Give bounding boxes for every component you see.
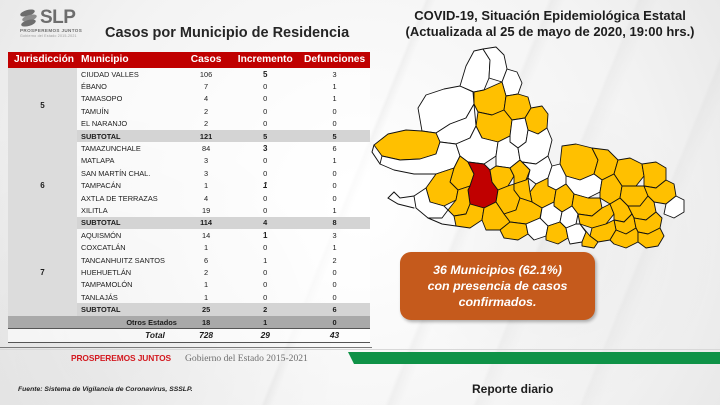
casos-cell: 4 <box>181 192 232 204</box>
defunciones-cell: 0 <box>299 167 370 179</box>
defunciones-cell: 0 <box>299 266 370 278</box>
table-row: 5 CIUDAD VALLES 106 5 3 <box>8 68 370 80</box>
defunciones-cell: 1 <box>299 93 370 105</box>
table-otros-estados-row: Otros Estados 18 1 0 <box>8 316 370 329</box>
subtotal-incremento: 4 <box>231 217 299 229</box>
otros-estados-incremento: 1 <box>231 316 299 329</box>
incremento-cell: 0 <box>231 118 299 130</box>
casos-cell: 2 <box>181 105 232 117</box>
defunciones-cell: 0 <box>299 291 370 303</box>
municipio-cell: MATLAPA <box>77 155 181 167</box>
incremento-cell: 1 <box>231 229 299 241</box>
defunciones-cell: 0 <box>299 279 370 291</box>
subtotal-label: SUBTOTAL <box>77 303 181 315</box>
map-border-tail <box>428 218 456 226</box>
municipio-cell: TAMASOPO <box>77 93 181 105</box>
municipio-cell: TAMPACÁN <box>77 180 181 192</box>
defunciones-cell: 1 <box>299 155 370 167</box>
incremento-cell: 0 <box>231 192 299 204</box>
municipio-cell: CIUDAD VALLES <box>77 68 181 80</box>
jurisdiccion-cell: 5 <box>8 68 77 142</box>
subtotal-casos: 121 <box>181 130 232 142</box>
main-title-line1: COVID-19, Situación Epidemiológica Estat… <box>382 8 718 24</box>
defunciones-cell: 6 <box>299 142 370 154</box>
casos-cell: 7 <box>181 80 232 92</box>
casos-cell: 3 <box>181 155 232 167</box>
municipio-cell: TAMAZUNCHALE <box>77 142 181 154</box>
municipio-cell: TAMUÍN <box>77 105 181 117</box>
incremento-cell: 5 <box>231 68 299 80</box>
subtotal-casos: 25 <box>181 303 232 315</box>
casos-cell: 84 <box>181 142 232 154</box>
table-header-row: Jurisdicción Municipio Casos Incremento … <box>8 52 370 68</box>
main-title-line2: (Actualizada al 25 de mayo de 2020, 19:0… <box>382 24 718 40</box>
col-header-municipio: Municipio <box>77 52 181 68</box>
otros-estados-label: Otros Estados <box>8 316 181 329</box>
map-municipio-white <box>460 49 490 92</box>
table-body: 5 CIUDAD VALLES 106 5 3 ÉBANO 7 0 1 TAMA… <box>8 68 370 342</box>
jurisdiccion-cell: 6 <box>8 142 77 229</box>
casos-cell: 19 <box>181 204 232 216</box>
defunciones-cell: 2 <box>299 254 370 266</box>
incremento-cell: 0 <box>231 80 299 92</box>
col-header-defunciones: Defunciones <box>299 52 370 68</box>
casos-cell: 14 <box>181 229 232 241</box>
callout-line1: 36 Municipios (62.1%) <box>433 263 562 277</box>
band-green-bar <box>348 352 720 364</box>
slp-logo: SLP PROSPEREMOS JUNTOS Gobierno del Esta… <box>20 8 92 42</box>
table-row: 7 AQUISMÓN 14 1 3 <box>8 229 370 241</box>
map-border-tail <box>388 192 414 208</box>
otros-estados-casos: 18 <box>181 316 232 329</box>
table-total-row: Total 728 29 43 <box>8 329 370 342</box>
defunciones-cell: 1 <box>299 80 370 92</box>
col-header-jurisdiccion: Jurisdicción <box>8 52 77 68</box>
callout-box: 36 Municipios (62.1%) con presencia de c… <box>400 252 595 320</box>
defunciones-cell: 0 <box>299 180 370 192</box>
incremento-cell: 0 <box>231 204 299 216</box>
incremento-cell: 1 <box>231 254 299 266</box>
defunciones-cell: 1 <box>299 204 370 216</box>
casos-cell: 3 <box>181 167 232 179</box>
bottom-band: PROSPEREMOS JUNTOS Gobierno del Estado 2… <box>0 349 720 371</box>
map-svg <box>370 38 720 253</box>
subtotal-incremento: 5 <box>231 130 299 142</box>
defunciones-cell: 1 <box>299 241 370 253</box>
subtotal-label: SUBTOTAL <box>77 217 181 229</box>
band-gobierno-estado: Gobierno del Estado 2015-2021 <box>185 353 308 364</box>
casos-cell: 2 <box>181 118 232 130</box>
incremento-cell: 0 <box>231 291 299 303</box>
total-casos: 728 <box>181 329 232 342</box>
incremento-cell: 1 <box>231 180 299 192</box>
band-top-line <box>0 349 720 350</box>
total-incremento: 29 <box>231 329 299 342</box>
cases-by-municipality-table: Jurisdicción Municipio Casos Incremento … <box>8 52 370 343</box>
municipio-cell: TANCANHUITZ SANTOS <box>77 254 181 266</box>
report-label: Reporte diario <box>472 382 553 396</box>
municipio-cell: AQUISMÓN <box>77 229 181 241</box>
col-header-incremento: Incremento <box>231 52 299 68</box>
jurisdiccion-cell: 7 <box>8 229 77 316</box>
callout-text: 36 Municipios (62.1%) con presencia de c… <box>428 262 568 310</box>
subtotal-defunciones: 5 <box>299 130 370 142</box>
subtotal-casos: 114 <box>181 217 232 229</box>
slp-emblem-icon <box>20 9 38 27</box>
subtotal-defunciones: 8 <box>299 217 370 229</box>
municipio-cell: XILITLA <box>77 204 181 216</box>
callout-line2: con presencia de casos <box>428 279 568 293</box>
col-header-casos: Casos <box>181 52 232 68</box>
municipio-cell: AXTLA DE TERRAZAS <box>77 192 181 204</box>
incremento-cell: 0 <box>231 93 299 105</box>
subtotal-defunciones: 6 <box>299 303 370 315</box>
total-defunciones: 43 <box>299 329 370 342</box>
municipio-cell: ÉBANO <box>77 80 181 92</box>
casos-cell: 6 <box>181 254 232 266</box>
logo-tagline: PROSPEREMOS JUNTOS <box>20 28 92 33</box>
slp-choropleth-map <box>370 38 720 253</box>
callout-line3: confirmados. <box>459 295 537 309</box>
source-note: Fuente: Sistema de Vigilancia de Coronav… <box>18 386 193 393</box>
main-title: COVID-19, Situación Epidemiológica Estat… <box>382 8 718 39</box>
municipio-cell: EL NARANJO <box>77 118 181 130</box>
band-prosperemos-juntos: PROSPEREMOS JUNTOS <box>71 353 171 363</box>
table-title: Casos por Municipio de Residencia <box>105 25 365 41</box>
defunciones-cell: 0 <box>299 118 370 130</box>
defunciones-cell: 0 <box>299 192 370 204</box>
municipio-cell: TANLAJÁS <box>77 291 181 303</box>
casos-cell: 106 <box>181 68 232 80</box>
defunciones-cell: 3 <box>299 68 370 80</box>
otros-estados-defunciones: 0 <box>299 316 370 329</box>
subtotal-incremento: 2 <box>231 303 299 315</box>
casos-cell: 4 <box>181 93 232 105</box>
logo-subtitle: Gobierno del Estado 2015-2021 <box>20 34 92 38</box>
total-label: Total <box>8 329 181 342</box>
casos-cell: 1 <box>181 291 232 303</box>
slide-canvas: SLP PROSPEREMOS JUNTOS Gobierno del Esta… <box>0 0 720 405</box>
municipio-cell: SAN MARTÍN CHAL. <box>77 167 181 179</box>
incremento-cell: 0 <box>231 266 299 278</box>
defunciones-cell: 3 <box>299 229 370 241</box>
band-divider <box>0 347 372 348</box>
logo-acronym: SLP <box>40 8 75 27</box>
incremento-cell: 0 <box>231 167 299 179</box>
municipio-cell: COXCATLÁN <box>77 241 181 253</box>
incremento-cell: 0 <box>231 155 299 167</box>
logo-row: SLP <box>20 8 92 27</box>
incremento-cell: 0 <box>231 241 299 253</box>
casos-cell: 2 <box>181 266 232 278</box>
municipio-cell: HUEHUETLÁN <box>77 266 181 278</box>
table-row: 6 TAMAZUNCHALE 84 3 6 <box>8 142 370 154</box>
casos-cell: 1 <box>181 180 232 192</box>
incremento-cell: 0 <box>231 105 299 117</box>
defunciones-cell: 0 <box>299 105 370 117</box>
incremento-cell: 3 <box>231 142 299 154</box>
casos-cell: 1 <box>181 241 232 253</box>
casos-cell: 1 <box>181 279 232 291</box>
table-head: Jurisdicción Municipio Casos Incremento … <box>8 52 370 68</box>
incremento-cell: 0 <box>231 279 299 291</box>
subtotal-label: SUBTOTAL <box>77 130 181 142</box>
municipio-cell: TAMPAMOLÓN <box>77 279 181 291</box>
